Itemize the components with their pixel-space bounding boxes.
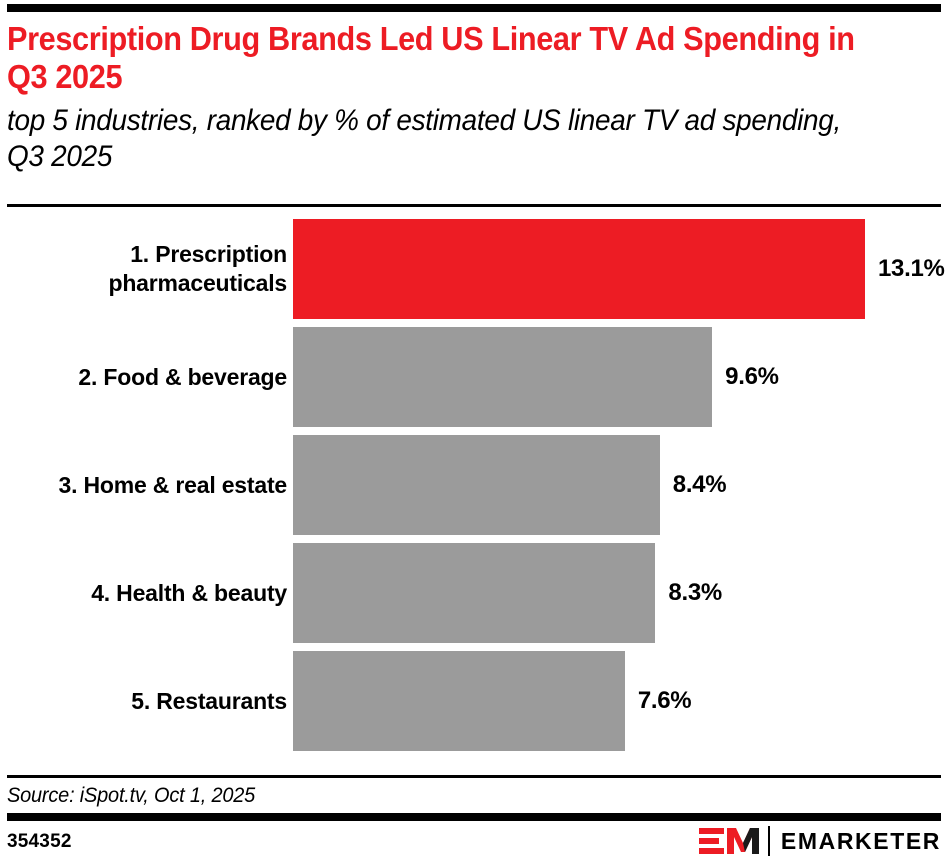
brand-wordmark: EMARKETER	[781, 830, 941, 853]
bar-track: 7.6%	[293, 651, 691, 751]
em-monogram-icon	[699, 825, 759, 857]
bar-row: 2. Food & beverage9.6%	[0, 327, 948, 427]
chart-id: 354352	[7, 831, 72, 853]
bar-value-label: 8.4%	[673, 471, 727, 499]
emarketer-logo: EMARKETER	[699, 824, 941, 858]
chart-page: Prescription Drug Brands Led US Linear T…	[0, 0, 948, 864]
bar-value-label: 9.6%	[725, 363, 779, 391]
bar-value-label: 8.3%	[668, 579, 722, 607]
bar-row: 5. Restaurants7.6%	[0, 651, 948, 751]
source-bottom-divider	[7, 813, 941, 821]
bar-row: 1. Prescription pharmaceuticals13.1%	[0, 219, 948, 319]
bar-rect[interactable]	[293, 651, 625, 751]
bar-category-label: 2. Food & beverage	[0, 363, 287, 392]
bar-track: 13.1%	[293, 219, 945, 319]
chart-header: Prescription Drug Brands Led US Linear T…	[7, 20, 941, 175]
chart-subtitle: top 5 industries, ranked by % of estimat…	[7, 103, 876, 175]
bar-category-label: 1. Prescription pharmaceuticals	[0, 240, 287, 298]
bar-track: 9.6%	[293, 327, 779, 427]
bar-category-label: 3. Home & real estate	[0, 471, 287, 500]
bar-track: 8.4%	[293, 435, 726, 535]
bar-row: 4. Health & beauty8.3%	[0, 543, 948, 643]
header-divider	[7, 204, 941, 207]
bar-value-label: 7.6%	[638, 687, 692, 715]
bar-rect[interactable]	[293, 327, 712, 427]
bar-value-label: 13.1%	[878, 255, 945, 283]
bar-rect[interactable]	[293, 435, 660, 535]
bar-chart-plot-area: 1. Prescription pharmaceuticals13.1%2. F…	[0, 219, 948, 769]
source-note: Source: iSpot.tv, Oct 1, 2025	[7, 784, 255, 808]
bar-rect[interactable]	[293, 543, 655, 643]
bar-category-label: 4. Health & beauty	[0, 579, 287, 608]
bar-category-label: 5. Restaurants	[0, 687, 287, 716]
top-rule-divider	[7, 4, 941, 12]
bar-track: 8.3%	[293, 543, 722, 643]
logo-divider	[768, 826, 770, 856]
bar-rect-highlighted[interactable]	[293, 219, 865, 319]
chart-title: Prescription Drug Brands Led US Linear T…	[7, 20, 876, 96]
bar-row: 3. Home & real estate8.4%	[0, 435, 948, 535]
source-top-divider	[7, 775, 941, 778]
